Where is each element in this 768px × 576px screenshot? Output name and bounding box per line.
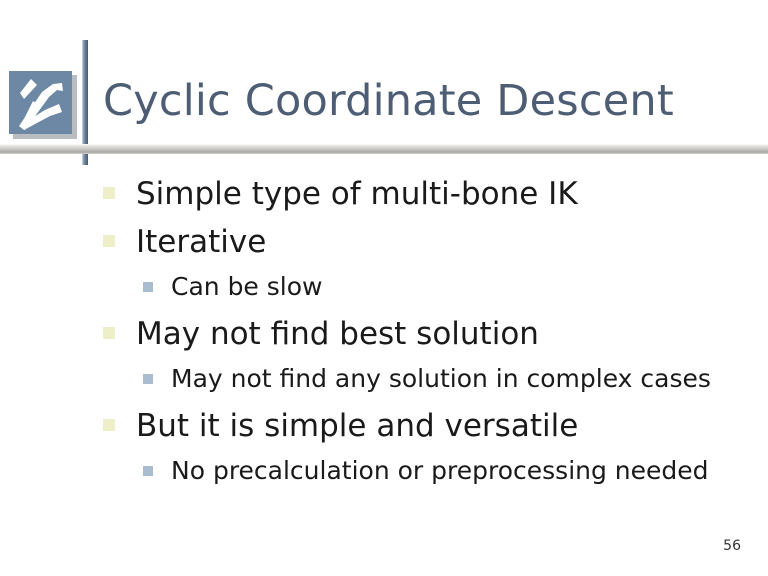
logo-tile-square bbox=[9, 71, 72, 134]
slide-header: Cyclic Coordinate Descent bbox=[0, 0, 768, 170]
sub-list-item: May not find any solution in complex cas… bbox=[0, 360, 768, 404]
page-number: 56 bbox=[723, 537, 741, 555]
bullet-marker-square bbox=[103, 187, 115, 199]
list-item: Simple type of multi-bone IK bbox=[0, 172, 768, 220]
list-item: May not find best solution bbox=[0, 312, 768, 360]
sub-list-item: No precalculation or preprocessing neede… bbox=[0, 452, 768, 496]
page-title: Cyclic Coordinate Descent bbox=[103, 74, 743, 128]
list-item-label: Iterative bbox=[136, 220, 266, 264]
slide-canvas: Cyclic Coordinate Descent Simple type of… bbox=[0, 0, 768, 576]
sub-list-item-label: Can be slow bbox=[171, 268, 322, 306]
list-item: Iterative bbox=[0, 220, 768, 268]
sub-bullet-marker-square bbox=[143, 282, 153, 292]
list-item-label: Simple type of multi-bone IK bbox=[136, 172, 578, 216]
bullet-marker-square bbox=[103, 327, 115, 339]
sub-list-item-label: May not find any solution in complex cas… bbox=[171, 360, 711, 398]
brush-strokes-logo bbox=[9, 71, 73, 135]
horizontal-accent-bar bbox=[0, 144, 768, 154]
sub-list-item-label: No precalculation or preprocessing neede… bbox=[171, 452, 709, 490]
bullet-list: Simple type of multi-bone IK Iterative C… bbox=[0, 172, 768, 496]
sub-bullet-marker-square bbox=[143, 374, 153, 384]
bullet-marker-square bbox=[103, 419, 115, 431]
sub-bullet-marker-square bbox=[143, 466, 153, 476]
bullet-marker-square bbox=[103, 235, 115, 247]
list-item-label: May not find best solution bbox=[136, 312, 539, 356]
brush-strokes-icon bbox=[9, 71, 72, 134]
list-item-label: But it is simple and versatile bbox=[136, 404, 578, 448]
sub-list-item: Can be slow bbox=[0, 268, 768, 312]
list-item: But it is simple and versatile bbox=[0, 404, 768, 452]
